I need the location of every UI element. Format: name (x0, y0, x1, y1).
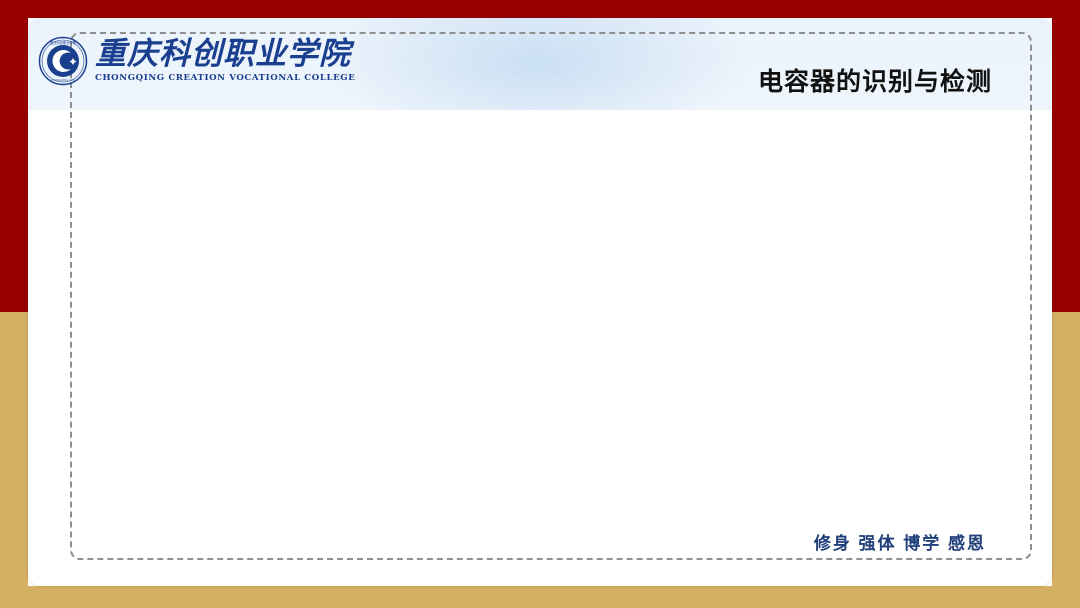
top-red-strip (0, 0, 1080, 18)
right-band-red (1052, 0, 1080, 312)
slide-title: 电容器的识别与检测 (758, 62, 992, 98)
left-band-gold (0, 312, 28, 608)
bottom-gold-strip (0, 586, 1080, 608)
left-color-band (0, 0, 28, 608)
school-name-block: 重庆科创职业学院 CHONGQING CREATION VOCATIONAL C… (95, 39, 355, 83)
school-logo: 重庆科创职业学院 CHONGQING 1993 重庆科创职业学院 CHONGQI… (38, 36, 355, 86)
school-name-cn: 重庆科创职业学院 (95, 39, 355, 70)
slide-root: 重庆科创职业学院 CHONGQING 1993 重庆科创职业学院 CHONGQI… (0, 0, 1080, 608)
school-seal-icon: 重庆科创职业学院 CHONGQING 1993 (38, 36, 88, 86)
svg-text:重庆科创职业学院: 重庆科创职业学院 (50, 40, 77, 45)
footer-motto: 修身 强体 博学 感恩 (810, 529, 990, 554)
slide-header: 重庆科创职业学院 CHONGQING 1993 重庆科创职业学院 CHONGQI… (28, 18, 1052, 110)
dashed-inner-frame (70, 32, 1032, 560)
svg-text:CHONGQING 1993: CHONGQING 1993 (51, 79, 76, 82)
left-band-red (0, 0, 28, 312)
right-band-gold (1052, 312, 1080, 608)
slide-card: 重庆科创职业学院 CHONGQING 1993 重庆科创职业学院 CHONGQI… (28, 18, 1052, 586)
right-color-band (1052, 0, 1080, 608)
school-name-en: CHONGQING CREATION VOCATIONAL COLLEGE (95, 74, 355, 83)
